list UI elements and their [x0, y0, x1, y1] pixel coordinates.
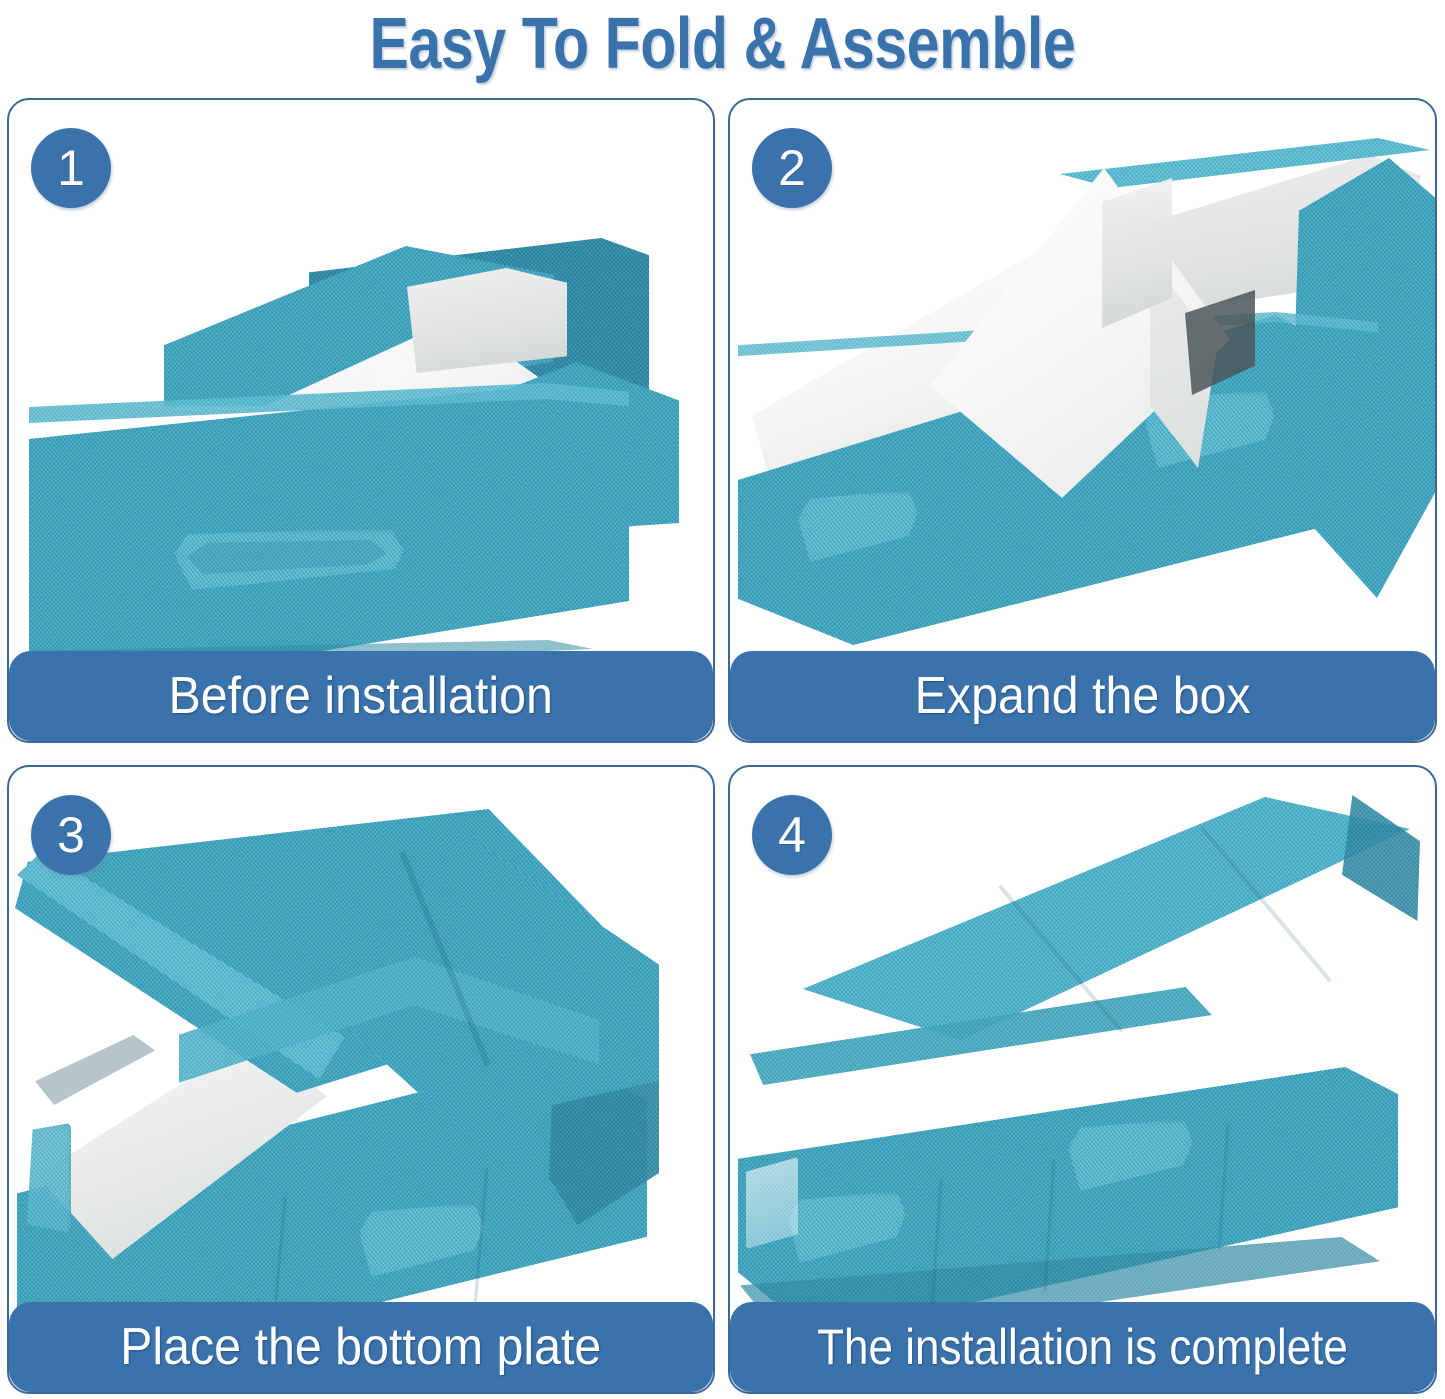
step-panel-2[interactable]: 2: [728, 98, 1437, 743]
step-illustration-2: [730, 100, 1435, 741]
step-illustration-4: [730, 767, 1435, 1392]
label-card-patch: [746, 1157, 798, 1249]
liner-panel-upper: [407, 268, 567, 373]
step-illustration-3: [9, 767, 713, 1392]
step-caption-text-2: Expand the box: [914, 668, 1250, 724]
step-panel-1[interactable]: 1: [7, 98, 715, 743]
page-title: Easy To Fold & Assemble: [370, 6, 1076, 82]
step-number-badge-4: 4: [752, 795, 832, 875]
page-header: Easy To Fold & Assemble: [0, 0, 1445, 88]
box-handle-left-side: [23, 1123, 71, 1233]
step-number-badge-1: 1: [31, 128, 111, 208]
step-caption-text-3: Place the bottom plate: [120, 1319, 601, 1375]
step-caption-1: Before installation: [9, 651, 713, 741]
step-caption-3: Place the bottom plate: [9, 1302, 713, 1392]
box-inner-cavity-shadow: [35, 1035, 155, 1105]
step-caption-text-1: Before installation: [169, 668, 553, 724]
steps-grid: 1: [7, 98, 1437, 1394]
step-number-badge-2: 2: [752, 128, 832, 208]
step-caption-text-4: The installation is complete: [817, 1319, 1348, 1375]
step-caption-2: Expand the box: [730, 651, 1435, 741]
step-number-badge-3: 3: [31, 795, 111, 875]
step-panel-3[interactable]: 3: [7, 765, 715, 1394]
step-illustration-1: [9, 100, 713, 741]
step-caption-4: The installation is complete: [730, 1302, 1435, 1392]
step-panel-4[interactable]: 4 The installati: [728, 765, 1437, 1394]
